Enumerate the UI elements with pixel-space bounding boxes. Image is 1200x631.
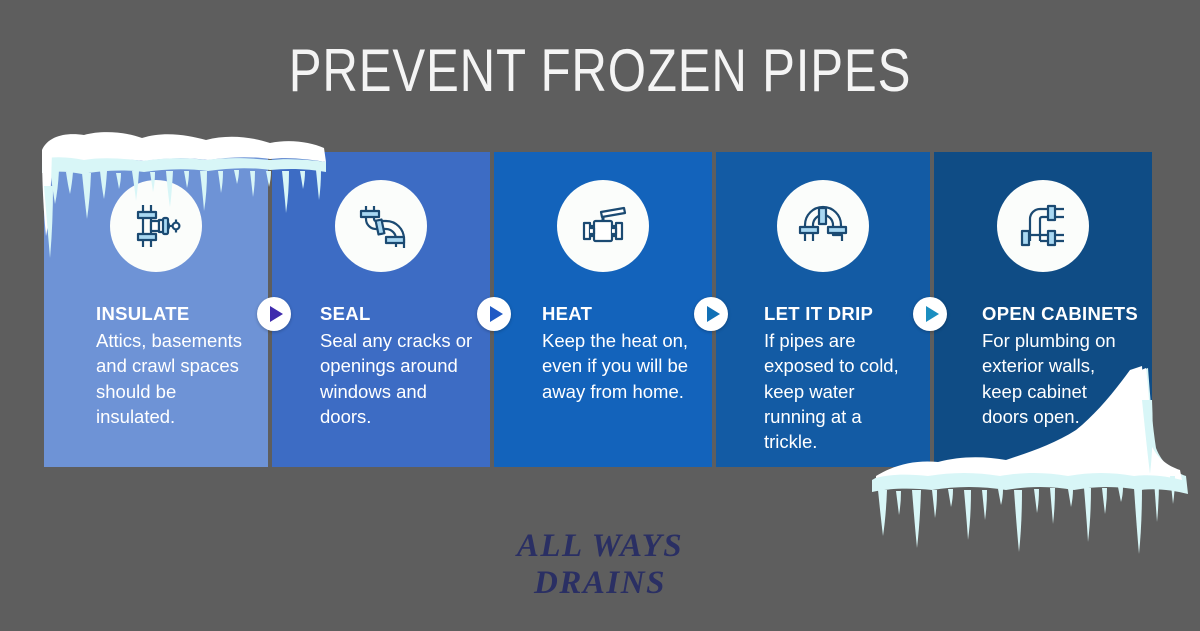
gate-valve-pipe-icon bbox=[110, 180, 202, 272]
panel-seal[interactable]: SEAL Seal any cracks or openings around … bbox=[272, 152, 490, 467]
connector-arrow-3[interactable] bbox=[694, 297, 728, 331]
panel-body: For plumbing on exterior walls, keep cab… bbox=[982, 328, 1136, 429]
connector-arrow-4[interactable] bbox=[913, 297, 947, 331]
connector-arrow-2[interactable] bbox=[477, 297, 511, 331]
panel-text-let-it-drip: LET IT DRIP If pipes are exposed to cold… bbox=[716, 302, 930, 455]
panel-heat[interactable]: HEAT Keep the heat on, even if you will … bbox=[494, 152, 712, 467]
panel-open-cabinets[interactable]: OPEN CABINETS For plumbing on exterior w… bbox=[934, 152, 1152, 467]
panel-text-seal: SEAL Seal any cracks or openings around … bbox=[272, 302, 490, 429]
panel-body: Attics, basements and crawl spaces shoul… bbox=[96, 328, 252, 429]
infographic-canvas: PREVENT FROZEN PIPES bbox=[0, 0, 1200, 631]
panel-title: LET IT DRIP bbox=[764, 302, 914, 327]
panel-text-open-cabinets: OPEN CABINETS For plumbing on exterior w… bbox=[934, 302, 1152, 429]
logo-line-2: DRAINS bbox=[0, 565, 1200, 602]
play-arrow-icon bbox=[490, 306, 503, 322]
play-arrow-icon bbox=[270, 306, 283, 322]
tips-panel-strip: INSULATE Attics, basements and crawl spa… bbox=[44, 152, 1156, 467]
elbow-pipe-icon bbox=[997, 180, 1089, 272]
play-arrow-icon bbox=[707, 306, 720, 322]
connector-arrow-1[interactable] bbox=[257, 297, 291, 331]
s-bend-pipe-icon bbox=[335, 180, 427, 272]
logo-line-1: ALL WAYS bbox=[517, 528, 683, 564]
panel-body: Seal any cracks or openings around windo… bbox=[320, 328, 474, 429]
panel-body: If pipes are exposed to cold, keep water… bbox=[764, 328, 914, 455]
panel-title: INSULATE bbox=[96, 302, 252, 327]
panel-let-it-drip[interactable]: LET IT DRIP If pipes are exposed to cold… bbox=[716, 152, 930, 467]
panel-text-heat: HEAT Keep the heat on, even if you will … bbox=[494, 302, 712, 404]
arch-pipe-outlet-icon bbox=[777, 180, 869, 272]
ball-valve-icon bbox=[557, 180, 649, 272]
play-arrow-icon bbox=[926, 306, 939, 322]
panel-title: HEAT bbox=[542, 302, 696, 327]
panel-body: Keep the heat on, even if you will be aw… bbox=[542, 328, 696, 404]
panel-text-insulate: INSULATE Attics, basements and crawl spa… bbox=[44, 302, 268, 429]
brand-logo: ALL WAYS DRAINS bbox=[0, 528, 1200, 602]
panel-title: OPEN CABINETS bbox=[982, 302, 1136, 327]
panel-insulate[interactable]: INSULATE Attics, basements and crawl spa… bbox=[44, 152, 268, 467]
panel-title: SEAL bbox=[320, 302, 474, 327]
page-title: PREVENT FROZEN PIPES bbox=[108, 36, 1092, 105]
